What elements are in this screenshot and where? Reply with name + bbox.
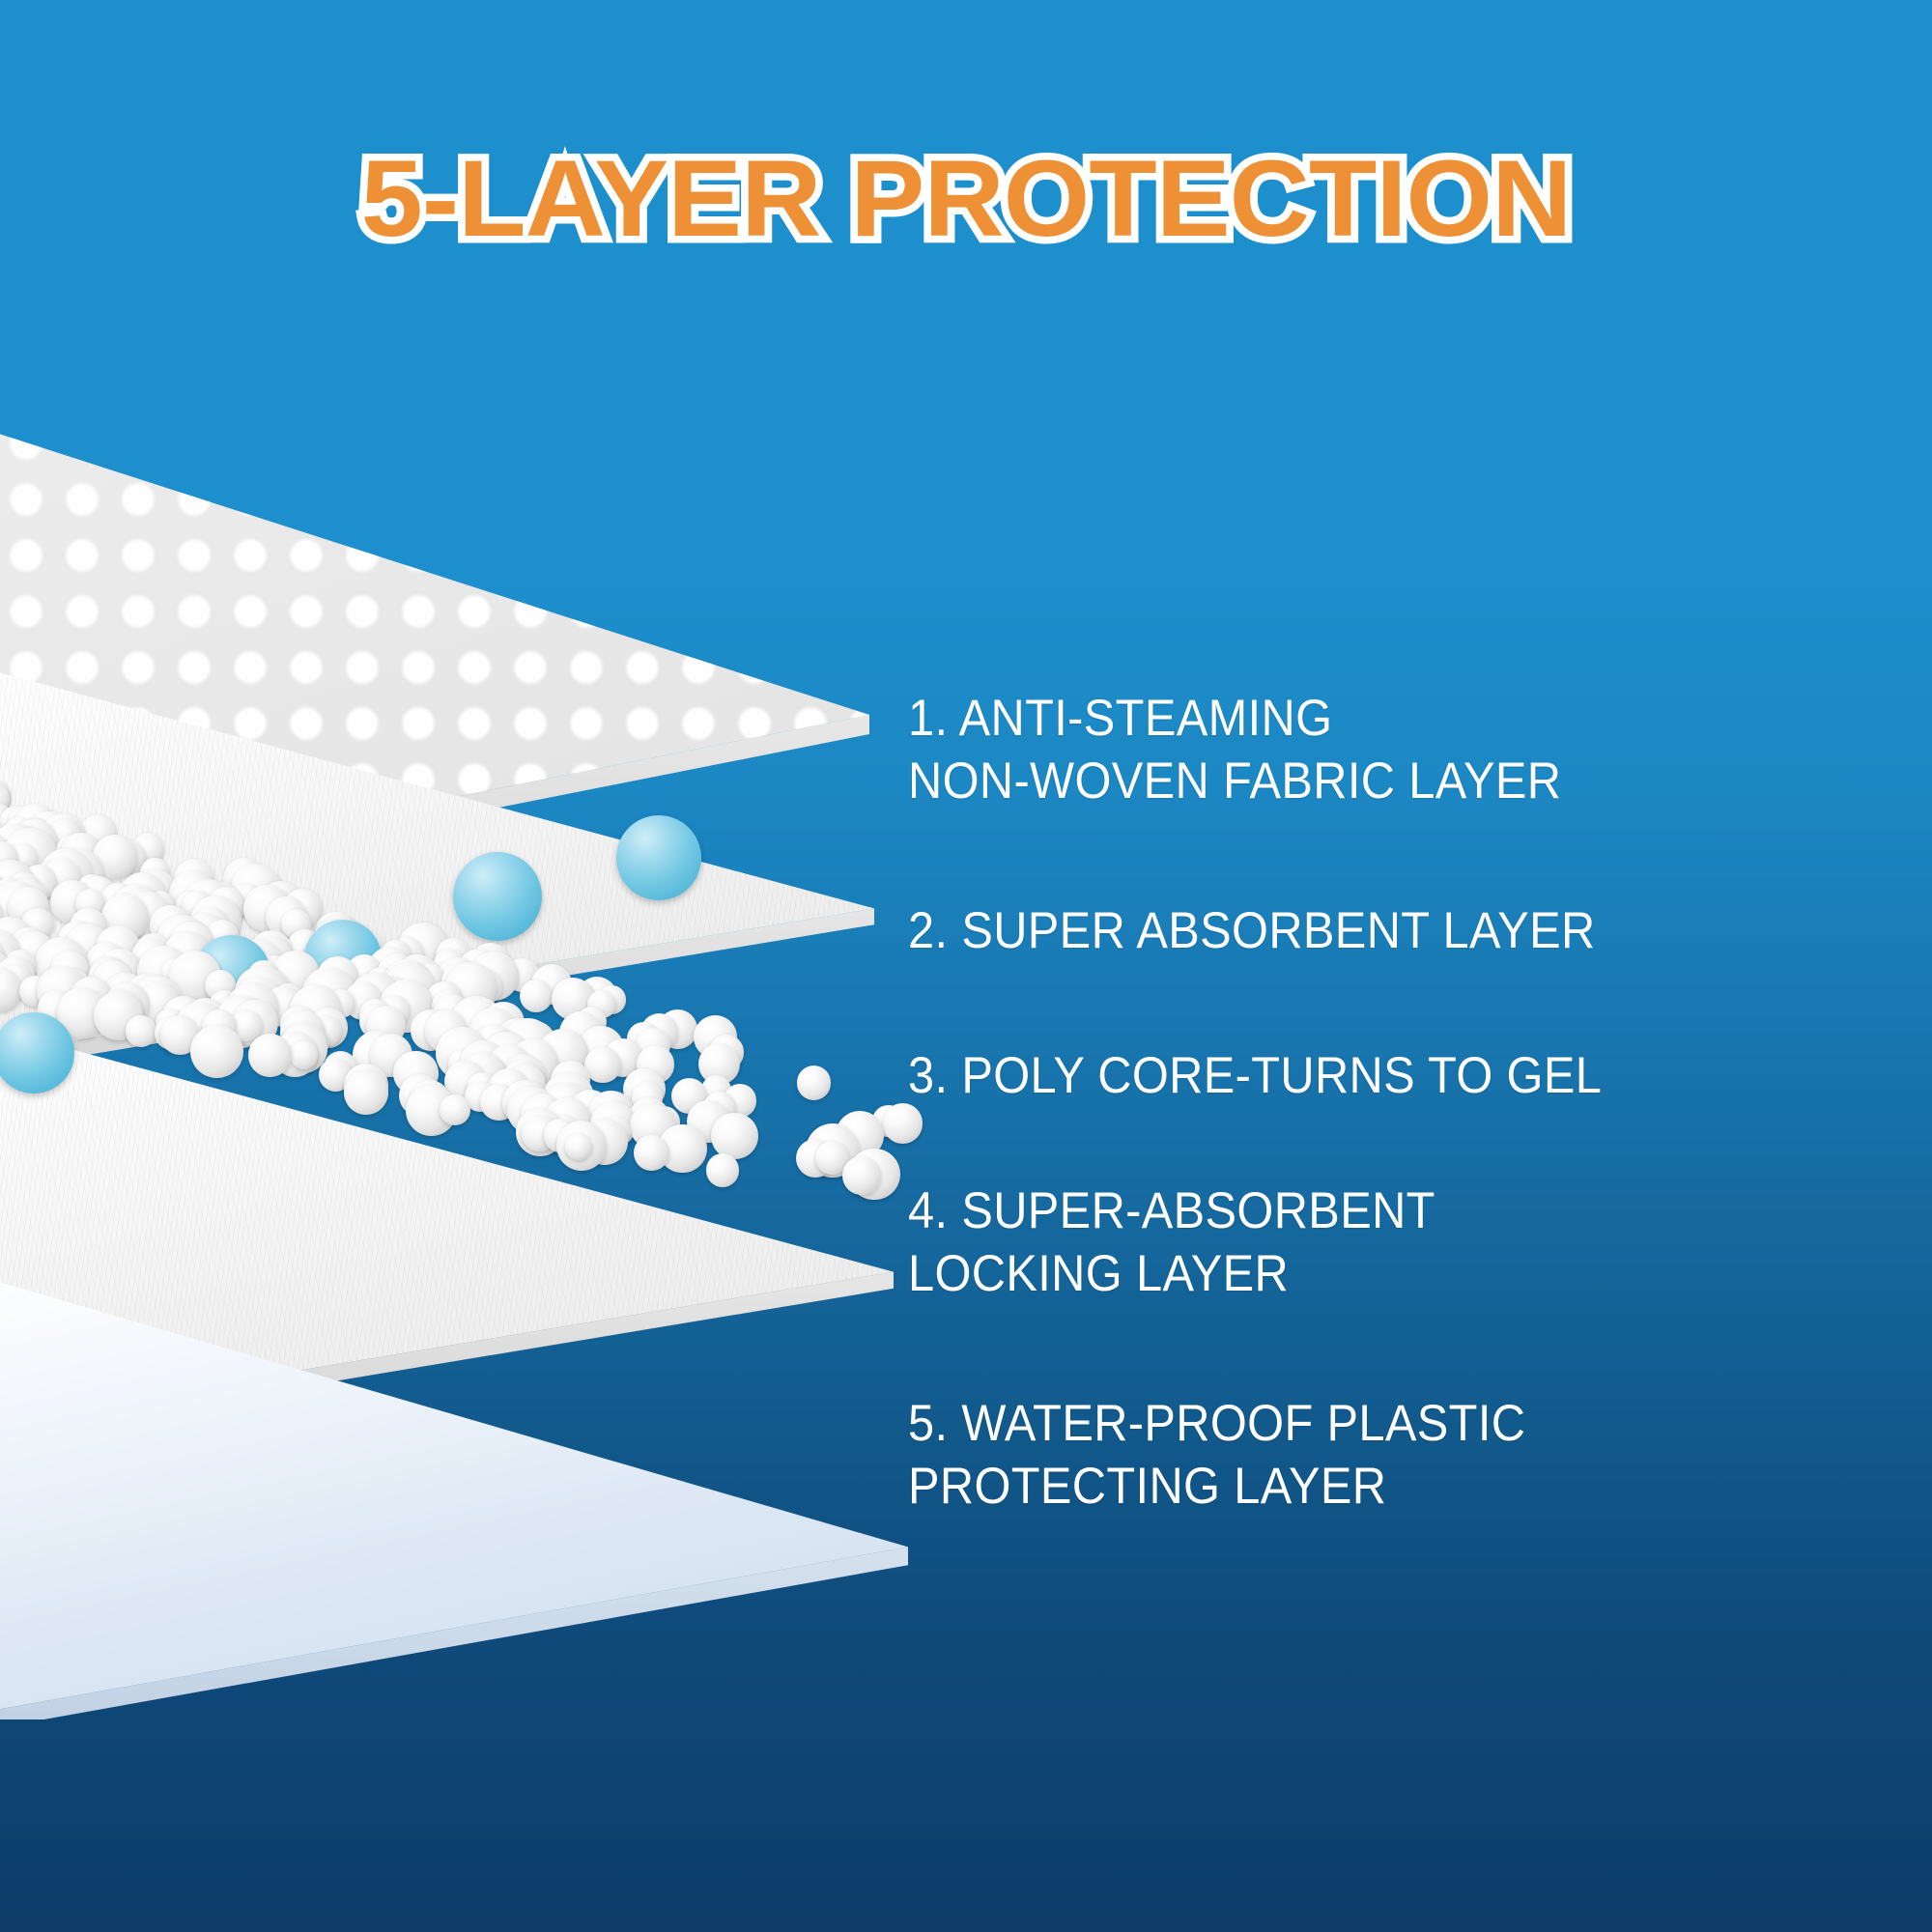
polymer-bead [565,1133,592,1160]
gel-bead [453,852,542,941]
polymer-bead [883,1103,923,1144]
polymer-bead [248,1034,292,1077]
polymer-bead [440,1094,470,1125]
layer-5-sheet-water-proof-plastic [0,1265,908,1719]
gel-bead [0,1012,74,1094]
layer-label-1: 1. ANTI-STEAMING NON-WOVEN FABRIC LAYER [908,688,1561,812]
polymer-bead [711,1113,758,1160]
gel-bead [616,815,701,900]
polymer-bead [797,1065,832,1100]
layer-5-top-face [0,1265,908,1719]
layer-label-list: 1. ANTI-STEAMING NON-WOVEN FABRIC LAYER … [908,0,1932,1932]
polymer-bead [126,1015,156,1046]
infographic-canvas: 5-LAYER PROTECTION 1. ANTI-STEAMING NON-… [0,0,1932,1932]
polymer-bead [706,1153,739,1186]
layer-3-poly-core-bead-field [0,734,966,1179]
polymer-bead [290,1040,318,1068]
polymer-bead [520,980,553,1012]
layer-label-3: 3. POLY CORE-TURNS TO GEL [908,1045,1602,1108]
polymer-bead [344,1070,388,1115]
polymer-bead [842,1156,881,1195]
polymer-bead [190,1025,243,1078]
layer-label-2: 2. SUPER ABSORBENT LAYER [908,900,1596,963]
layer-label-5: 5. WATER-PROOF PLASTIC PROTECTING LAYER [908,1393,1525,1518]
layer-label-4: 4. SUPER-ABSORBENT LOCKING LAYER [908,1180,1435,1305]
polymer-bead [584,1047,620,1083]
